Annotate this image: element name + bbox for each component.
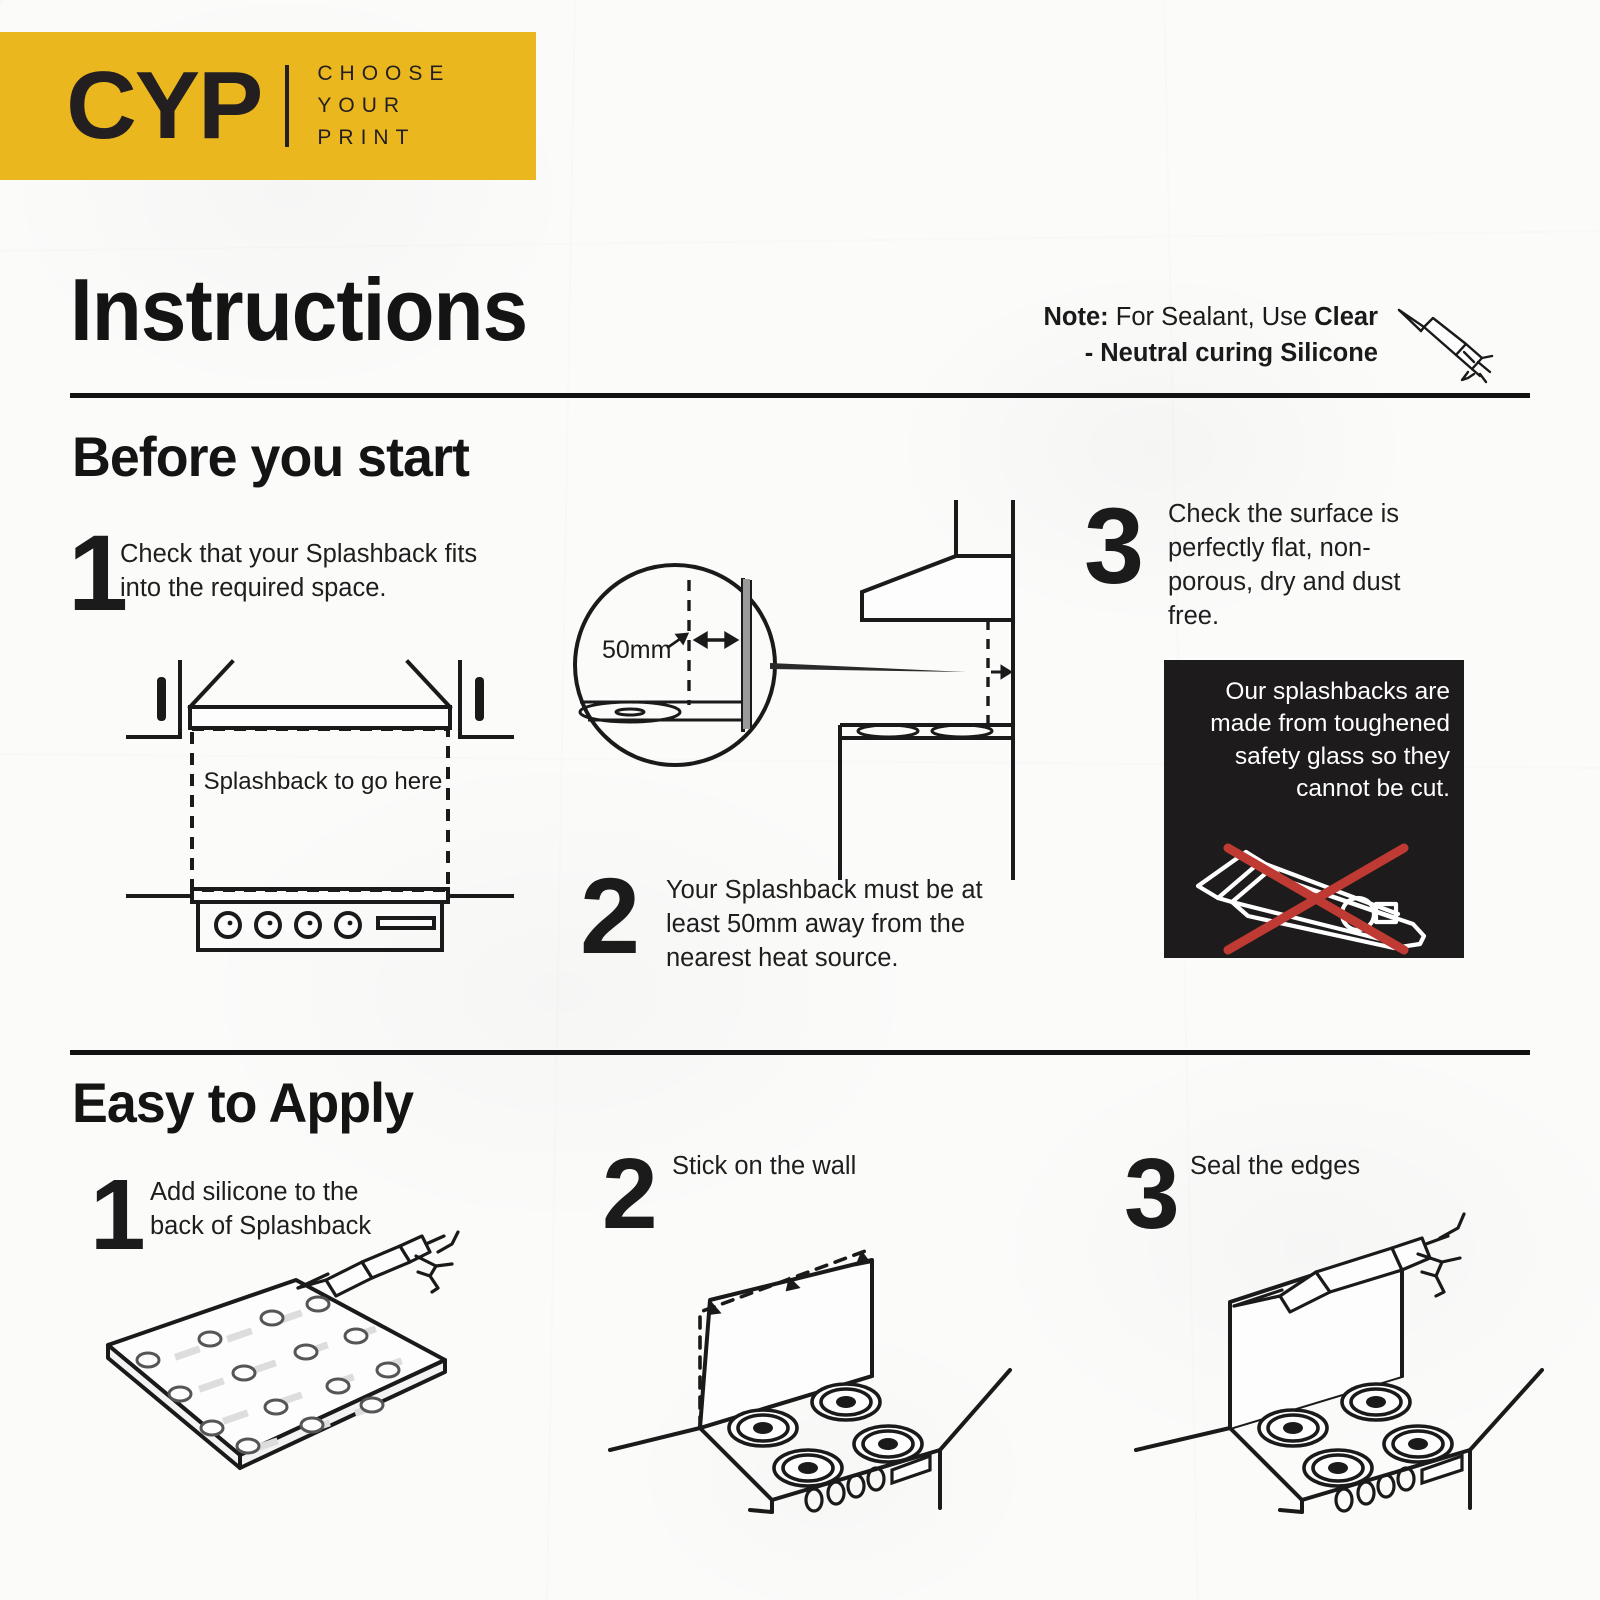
diagram-seal-edges bbox=[1130, 1180, 1560, 1520]
step-text-before-2: Your Splashback must be at least 50mm aw… bbox=[666, 874, 1026, 976]
note-line-2: - Neutral curing Silicone bbox=[1085, 339, 1378, 367]
instruction-sheet: CYP CHOOSE YOUR PRINT Instructions Note:… bbox=[0, 0, 1600, 1600]
step-text-before-3: Check the surface is perfectly flat, non… bbox=[1168, 498, 1438, 634]
brand-tagline: CHOOSE YOUR PRINT bbox=[317, 58, 450, 154]
note-text: For Sealant, Use bbox=[1109, 303, 1315, 331]
brand-logo: CYP CHOOSE YOUR PRINT bbox=[0, 32, 536, 180]
section-divider-bottom bbox=[70, 1050, 1530, 1055]
page-title: Instructions bbox=[70, 259, 527, 361]
sealant-note: Note: For Sealant, Use Clear - Neutral c… bbox=[978, 299, 1378, 371]
diagram-stick-on-wall bbox=[600, 1180, 1020, 1520]
step-text-easy-1: Add silicone to the back of Splashback bbox=[150, 1176, 410, 1244]
tagline-line-1: CHOOSE bbox=[317, 58, 450, 90]
section-heading-before: Before you start bbox=[72, 424, 469, 489]
paper-crease bbox=[0, 230, 1600, 252]
logo-divider bbox=[285, 65, 289, 147]
step-number-before-3: 3 bbox=[1084, 492, 1144, 600]
diagram-apply-silicone bbox=[100, 1250, 520, 1520]
warning-box: Our splashbacks are made from toughened … bbox=[1164, 660, 1464, 958]
note-label: Note: bbox=[1044, 303, 1109, 331]
tagline-line-3: PRINT bbox=[317, 122, 450, 154]
utility-knife-icon bbox=[1188, 840, 1450, 952]
diagram-label-splashback-here: Splashback to go here bbox=[198, 766, 448, 797]
section-heading-easy: Easy to Apply bbox=[72, 1070, 413, 1135]
diagram-50mm-clearance: 50mm bbox=[558, 480, 1028, 880]
step-text-easy-2: Stick on the wall bbox=[672, 1150, 952, 1184]
step-text-before-1: Check that your Splashback fits into the… bbox=[120, 538, 490, 606]
warning-text: Our splashbacks are made from toughened … bbox=[1182, 676, 1450, 805]
caulking-gun-icon bbox=[1394, 296, 1494, 382]
step-text-easy-3: Seal the edges bbox=[1190, 1150, 1470, 1184]
diagram-splashback-space bbox=[120, 650, 520, 950]
brand-mark: CYP bbox=[66, 58, 261, 154]
tagline-line-2: YOUR bbox=[317, 90, 450, 122]
section-divider-top bbox=[70, 393, 1530, 398]
label-50mm: 50mm bbox=[602, 636, 671, 664]
note-bold-clear: Clear bbox=[1314, 303, 1378, 331]
